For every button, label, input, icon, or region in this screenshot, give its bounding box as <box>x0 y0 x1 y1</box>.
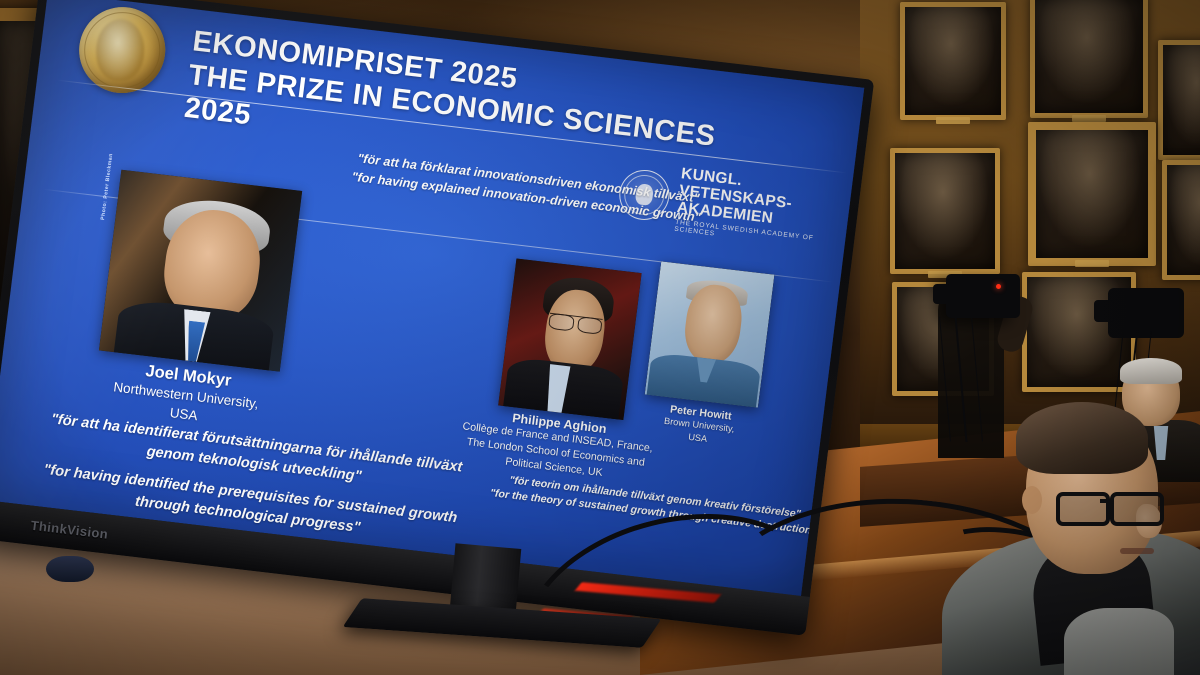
press-conference-photo: EKONOMIPRISET 2025 THE PRIZE IN ECONOMIC… <box>0 0 1200 675</box>
monitor-brand-label: ThinkVision <box>30 518 109 542</box>
camera-record-led <box>996 284 1001 289</box>
photo-inner <box>498 258 641 420</box>
person-mouth <box>1120 548 1154 554</box>
person-ear <box>1022 486 1042 514</box>
nobel-announcement-slide: EKONOMIPRISET 2025 THE PRIZE IN ECONOMIC… <box>0 0 864 596</box>
video-camera-icon <box>1108 288 1184 338</box>
video-camera-icon <box>946 274 1020 318</box>
framed-portrait <box>1030 0 1148 118</box>
framed-portrait <box>900 2 1006 120</box>
laureate-photo-aghion <box>498 258 641 420</box>
photo-inner <box>99 170 302 372</box>
laureate-photo-mokyr: Photo: Peter Bleckman <box>99 170 302 372</box>
eyeglasses-lens <box>1110 492 1164 526</box>
eyeglasses-lens <box>1056 492 1110 526</box>
framed-portrait <box>1162 160 1200 280</box>
frame-plaque <box>936 117 970 124</box>
photo-credit: Photo: Peter Bleckman <box>100 153 114 220</box>
attendee-hair <box>1120 358 1182 384</box>
person-hair <box>1016 402 1148 474</box>
foreground-person <box>960 408 1200 675</box>
person-chest <box>1064 608 1174 675</box>
laureate-photo-howitt <box>645 261 775 407</box>
framed-portrait <box>890 148 1000 274</box>
framed-portrait <box>1158 40 1200 160</box>
eyeglasses-icon <box>1056 492 1162 518</box>
framed-portrait <box>1028 122 1156 266</box>
frame-plaque <box>1072 115 1106 122</box>
photo-inner <box>645 261 775 407</box>
floor-object <box>46 556 94 582</box>
monitor-screen: EKONOMIPRISET 2025 THE PRIZE IN ECONOMIC… <box>0 0 864 596</box>
frame-plaque <box>1075 260 1109 267</box>
nobel-medal-icon <box>78 7 166 94</box>
